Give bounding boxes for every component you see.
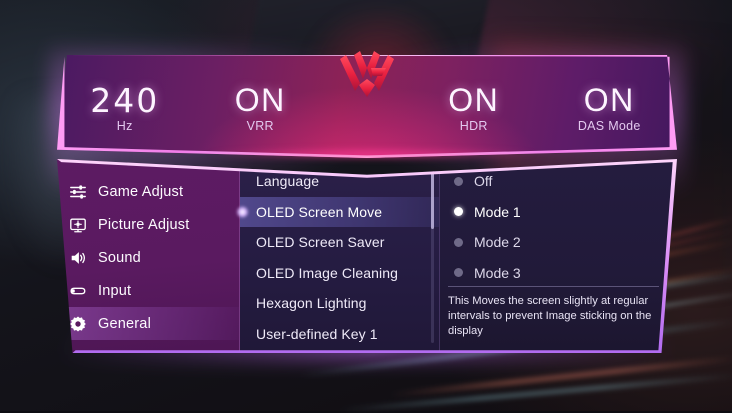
stat-das-mode: ON DAS Mode: [542, 72, 678, 133]
option-label: Mode 3: [474, 265, 521, 281]
sidebar-item-general[interactable]: General: [57, 307, 239, 340]
settings-item-label: OLED Image Cleaning: [256, 265, 398, 281]
plug-cable-icon: [69, 282, 87, 300]
status-bar: 240 Hz ON VRR ON HDR ON DAS Mode: [57, 55, 677, 150]
settings-item-oled-screen-move[interactable]: OLED Screen Move: [240, 197, 439, 228]
option-mode-1[interactable]: Mode 1: [440, 197, 677, 228]
option-mode-3[interactable]: Mode 3: [440, 258, 677, 289]
monitor-gear-icon: [69, 216, 87, 234]
settings-item-label: OLED Screen Move: [256, 204, 382, 220]
settings-item-label: User-defined Key 1: [256, 326, 378, 342]
settings-scrollbar-thumb[interactable]: [431, 161, 434, 229]
settings-item-language[interactable]: Language: [240, 166, 439, 197]
settings-item-label: Hexagon Lighting: [256, 295, 367, 311]
osd-panel: 240 Hz ON VRR ON HDR ON DAS Mode: [57, 55, 677, 353]
sidebar-item-label: Picture Adjust: [98, 217, 189, 233]
stat-vrr: ON VRR: [193, 72, 329, 133]
settings-item-hexagon-lighting[interactable]: Hexagon Lighting: [240, 288, 439, 319]
settings-list: Language OLED Screen Move OLED Screen Sa…: [240, 155, 440, 353]
sidebar-menu: Game Adjust Picture Adjust: [57, 155, 240, 353]
sidebar-item-picture-adjust[interactable]: Picture Adjust: [57, 208, 239, 241]
stat-label: DAS Mode: [542, 119, 678, 133]
osd-body: Game Adjust Picture Adjust: [57, 155, 677, 353]
sidebar-item-label: Game Adjust: [98, 184, 183, 200]
options-list: Off Mode 1 Mode 2 Mode 3 This Moves the …: [440, 155, 677, 353]
option-mode-2[interactable]: Mode 2: [440, 227, 677, 258]
radio-dot-icon: [454, 177, 463, 186]
sidebar-item-label: Sound: [98, 250, 141, 266]
stat-refresh-rate: 240 Hz: [57, 72, 193, 134]
option-label: Mode 2: [474, 234, 521, 250]
radio-dot-icon: [454, 238, 463, 247]
sidebar-item-label: Input: [98, 283, 131, 299]
option-label: Mode 1: [474, 204, 521, 220]
stat-value: ON: [193, 84, 329, 118]
settings-item-oled-screen-saver[interactable]: OLED Screen Saver: [240, 227, 439, 258]
options-divider: [448, 286, 659, 287]
stat-value: ON: [406, 84, 542, 118]
option-label: Off: [474, 173, 492, 189]
settings-item-oled-image-cleaning[interactable]: OLED Image Cleaning: [240, 258, 439, 289]
stat-label: Hz: [57, 119, 193, 133]
stat-value: 240: [57, 84, 193, 119]
sidebar-item-sound[interactable]: Sound: [57, 241, 239, 274]
radio-dot-icon: [454, 207, 463, 216]
osd-header: 240 Hz ON VRR ON HDR ON DAS Mode: [57, 55, 677, 158]
stat-hdr: ON HDR: [406, 72, 542, 133]
radio-dot-icon: [454, 268, 463, 277]
settings-item-user-defined-key-1[interactable]: User-defined Key 1: [240, 319, 439, 350]
stat-value: ON: [542, 84, 678, 118]
sidebar-item-game-adjust[interactable]: Game Adjust: [57, 175, 239, 208]
settings-item-label: Language: [256, 173, 319, 189]
speaker-icon: [69, 249, 87, 267]
stat-label: VRR: [193, 119, 329, 133]
sidebar-item-input[interactable]: Input: [57, 274, 239, 307]
stat-label: HDR: [406, 119, 542, 133]
settings-item-label: OLED Screen Saver: [256, 234, 385, 250]
option-off[interactable]: Off: [440, 166, 677, 197]
sidebar-item-label: General: [98, 316, 151, 332]
sliders-icon: [69, 183, 87, 201]
gear-icon: [69, 315, 87, 333]
option-description: This Moves the screen slightly at regula…: [448, 294, 665, 339]
